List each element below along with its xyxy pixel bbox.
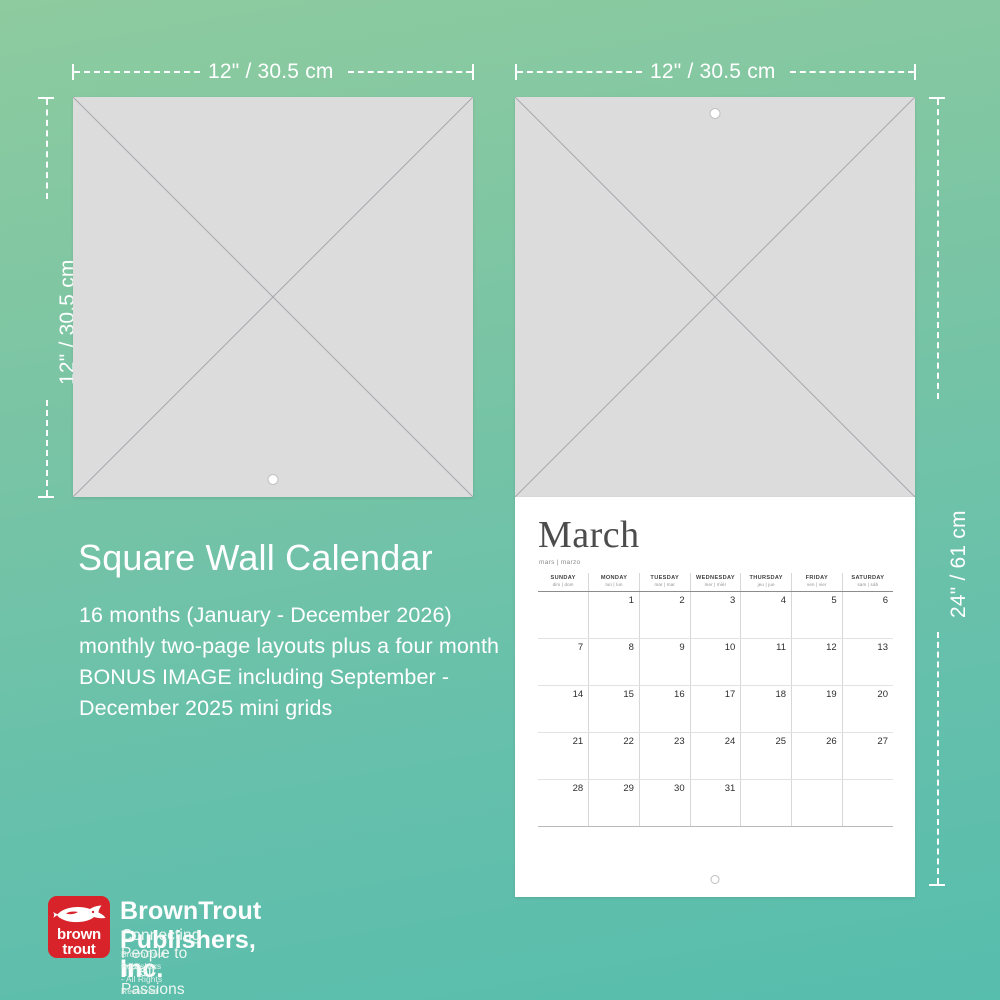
calendar-day-cell[interactable]: 22 bbox=[589, 732, 640, 779]
calendar-day-cell[interactable]: 13 bbox=[842, 638, 893, 685]
day-header-label: FRIDAY bbox=[792, 575, 842, 582]
dim-cap-top-left-end bbox=[472, 64, 474, 80]
dim-line-top-left-b bbox=[348, 71, 472, 73]
dim-line-top-left-a bbox=[74, 71, 200, 73]
placeholder-cross-icon bbox=[73, 97, 473, 497]
legal-line-1: BrownTrout Publishers - All Rights Reser… bbox=[121, 948, 165, 1000]
calendar-week-row: 7 8 9 10 11 12 13 bbox=[538, 638, 893, 685]
calendar-day-header-sunday: SUNDAY dim | dom bbox=[538, 573, 589, 591]
dim-cap-left-bottom bbox=[38, 496, 54, 498]
calendar-day-cell[interactable] bbox=[741, 779, 792, 826]
calendar-day-cell[interactable]: 5 bbox=[792, 591, 843, 638]
calendar-day-cell[interactable]: 10 bbox=[690, 638, 741, 685]
dim-line-right-b bbox=[937, 632, 939, 884]
calendar-day-cell[interactable]: 9 bbox=[639, 638, 690, 685]
dim-line-right-a bbox=[937, 99, 939, 399]
calendar-day-cell[interactable]: 18 bbox=[741, 685, 792, 732]
calendar-day-cell[interactable]: 12 bbox=[792, 638, 843, 685]
hole-punch-icon-right-panel bbox=[710, 108, 721, 119]
calendar-day-cell[interactable]: 25 bbox=[741, 732, 792, 779]
dim-line-top-right-b bbox=[790, 71, 914, 73]
dim-line-left-a bbox=[46, 99, 48, 199]
calendar-week-row: 28 29 30 31 bbox=[538, 779, 893, 826]
dim-label-right-vertical: 24" / 61 cm bbox=[947, 510, 971, 618]
day-header-sublabel: mer | miér bbox=[691, 582, 741, 588]
calendar-day-cell[interactable]: 3 bbox=[690, 591, 741, 638]
calendar-month-subtitle: mars | marzo bbox=[539, 559, 580, 566]
calendar-day-header-saturday: SATURDAY sam | sáb bbox=[842, 573, 893, 591]
calendar-day-cell[interactable]: 20 bbox=[842, 685, 893, 732]
calendar-day-cell[interactable]: 1 bbox=[589, 591, 640, 638]
calendar-month-title: March bbox=[538, 516, 640, 554]
calendar-day-cell[interactable] bbox=[538, 591, 589, 638]
calendar-day-cell[interactable]: 31 bbox=[690, 779, 741, 826]
day-header-sublabel: jeu | jue bbox=[741, 582, 791, 588]
calendar-day-cell[interactable]: 30 bbox=[639, 779, 690, 826]
calendar-day-header-monday: MONDAY lun | lun bbox=[589, 573, 640, 591]
calendar-image-panel-right bbox=[515, 97, 915, 497]
calendar-day-header-tuesday: TUESDAY mar | mar bbox=[639, 573, 690, 591]
brand-legal: BrownTrout Publishers - All Rights Reser… bbox=[121, 948, 165, 1000]
day-header-sublabel: lun | lun bbox=[589, 582, 639, 588]
day-header-label: SUNDAY bbox=[538, 575, 588, 582]
calendar-day-cell[interactable]: 8 bbox=[589, 638, 640, 685]
logo-word-trout: trout bbox=[48, 942, 110, 957]
placeholder-cross-icon-right bbox=[515, 97, 915, 497]
dim-line-left-b bbox=[46, 400, 48, 496]
calendar-day-cell[interactable]: 23 bbox=[639, 732, 690, 779]
calendar-day-cell[interactable]: 7 bbox=[538, 638, 589, 685]
calendar-day-cell[interactable]: 4 bbox=[741, 591, 792, 638]
calendar-day-cell[interactable] bbox=[842, 779, 893, 826]
calendar-day-cell[interactable]: 27 bbox=[842, 732, 893, 779]
day-header-label: WEDNESDAY bbox=[691, 575, 741, 582]
dim-line-top-right-a bbox=[517, 71, 642, 73]
calendar-day-cell[interactable]: 21 bbox=[538, 732, 589, 779]
calendar-day-cell[interactable] bbox=[792, 779, 843, 826]
calendar-day-cell[interactable]: 2 bbox=[639, 591, 690, 638]
dim-label-top-right: 12" / 30.5 cm bbox=[650, 60, 776, 84]
dim-cap-right-bottom bbox=[929, 884, 945, 886]
calendar-day-cell[interactable]: 11 bbox=[741, 638, 792, 685]
calendar-grid-page: March mars | marzo SUNDAY dim | dom MOND… bbox=[515, 497, 915, 897]
calendar-day-cell[interactable]: 28 bbox=[538, 779, 589, 826]
calendar-week-row: 21 22 23 24 25 26 27 bbox=[538, 732, 893, 779]
calendar-table: SUNDAY dim | dom MONDAY lun | lun TUESDA… bbox=[538, 573, 893, 827]
calendar-day-cell[interactable]: 24 bbox=[690, 732, 741, 779]
product-title: Square Wall Calendar bbox=[78, 537, 433, 579]
calendar-day-cell[interactable]: 29 bbox=[589, 779, 640, 826]
day-header-sublabel: dim | dom bbox=[538, 582, 588, 588]
calendar-week-row: 1 2 3 4 5 6 bbox=[538, 591, 893, 638]
browntrout-logo[interactable]: brown trout bbox=[48, 896, 110, 958]
day-header-sublabel: sam | sáb bbox=[843, 582, 893, 588]
dim-cap-top-right-end bbox=[914, 64, 916, 80]
calendar-day-cell[interactable]: 17 bbox=[690, 685, 741, 732]
logo-word-brown: brown bbox=[48, 927, 110, 942]
hole-punch-icon-left-panel bbox=[268, 474, 279, 485]
product-description: 16 months (January - December 2026) mont… bbox=[79, 600, 519, 724]
calendar-image-panel-left bbox=[73, 97, 473, 497]
calendar-day-header-wednesday: WEDNESDAY mer | miér bbox=[690, 573, 741, 591]
dim-label-top-left: 12" / 30.5 cm bbox=[208, 60, 334, 84]
calendar-day-cell[interactable]: 19 bbox=[792, 685, 843, 732]
calendar-day-cell[interactable]: 16 bbox=[639, 685, 690, 732]
calendar-day-header-friday: FRIDAY ven | vier bbox=[792, 573, 843, 591]
calendar-body: 1 2 3 4 5 6 7 8 9 10 11 12 13 14 bbox=[538, 591, 893, 826]
day-header-sublabel: mar | mar bbox=[640, 582, 690, 588]
calendar-day-cell[interactable]: 15 bbox=[589, 685, 640, 732]
calendar-day-cell[interactable]: 26 bbox=[792, 732, 843, 779]
day-header-sublabel: ven | vier bbox=[792, 582, 842, 588]
calendar-day-header-thursday: THURSDAY jeu | jue bbox=[741, 573, 792, 591]
day-header-label: MONDAY bbox=[589, 575, 639, 582]
calendar-header-row: SUNDAY dim | dom MONDAY lun | lun TUESDA… bbox=[538, 573, 893, 591]
hole-punch-icon-calendar-page bbox=[711, 875, 720, 884]
day-header-label: TUESDAY bbox=[640, 575, 690, 582]
day-header-label: THURSDAY bbox=[741, 575, 791, 582]
calendar-day-cell[interactable]: 6 bbox=[842, 591, 893, 638]
day-header-label: SATURDAY bbox=[843, 575, 893, 582]
product-preview-stage: 12" / 30.5 cm 12" / 30.5 cm 12" / 30.5 c… bbox=[0, 0, 1000, 1000]
calendar-day-cell[interactable]: 14 bbox=[538, 685, 589, 732]
trout-fish-icon bbox=[52, 903, 106, 925]
calendar-week-row: 14 15 16 17 18 19 20 bbox=[538, 685, 893, 732]
